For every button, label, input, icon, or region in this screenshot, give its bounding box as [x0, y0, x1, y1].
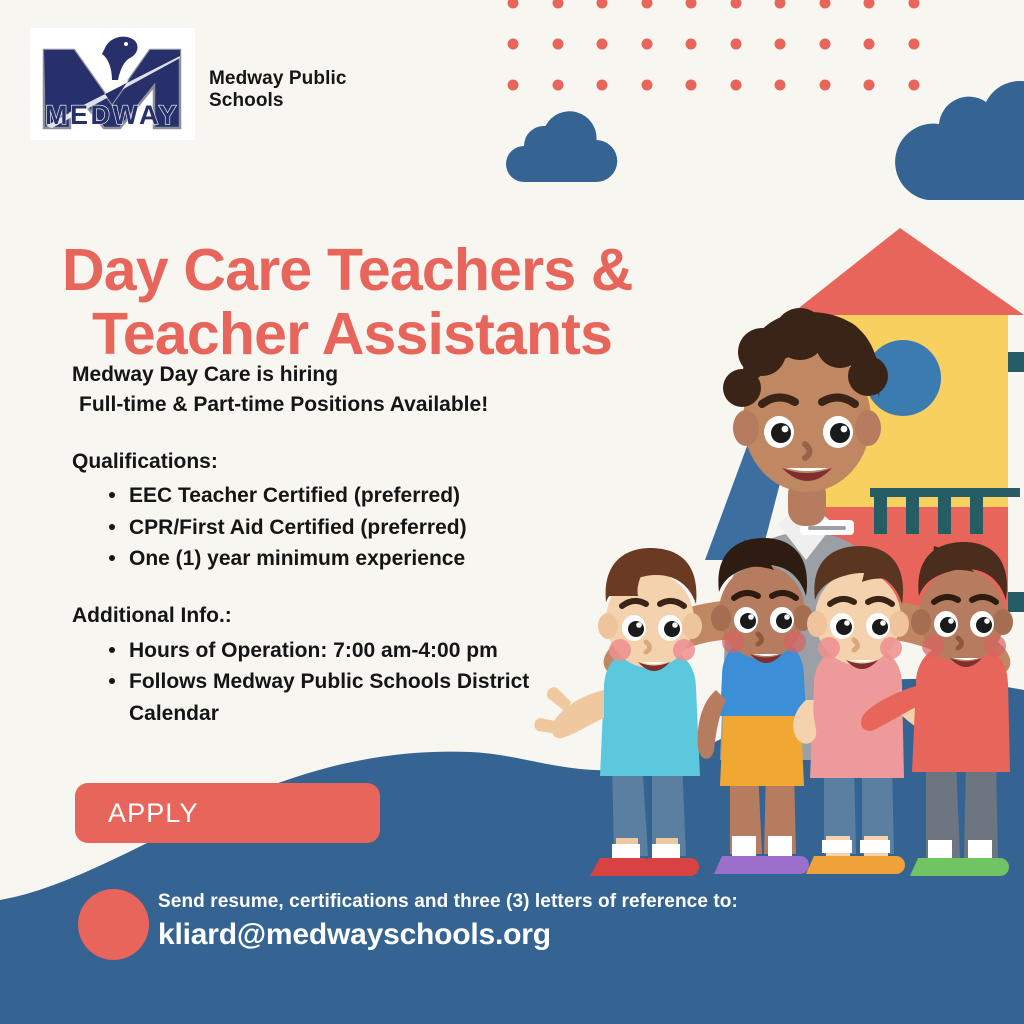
list-item: Follows Medway Public Schools District C… [109, 666, 592, 729]
medway-logo-mark: MEDWAY [30, 28, 195, 140]
poster: MEDWAY Medway Public Schools Day Care Te… [0, 0, 1024, 1024]
intro-line-2: Full-time & Part-time Positions Availabl… [72, 390, 592, 420]
child-1-shoe-left [590, 858, 651, 876]
child-1-shoe-right [642, 858, 699, 876]
body-copy: Medway Day Care is hiring Full-time & Pa… [72, 360, 592, 729]
qualifications-heading: Qualifications: [72, 447, 592, 477]
logo-m-icon: MEDWAY [30, 28, 195, 140]
footer-instruction: Send resume, certifications and three (3… [158, 890, 738, 914]
logo-caption: Medway Public Schools [209, 28, 394, 113]
child-2-shoe-right [754, 856, 809, 874]
list-item: CPR/First Aid Certified (preferred) [109, 512, 592, 543]
list-item: Hours of Operation: 7:00 am-4:00 pm [109, 635, 592, 666]
apply-button-label: APPLY [108, 798, 199, 829]
list-item: EEC Teacher Certified (preferred) [109, 480, 592, 511]
additional-info-heading: Additional Info.: [72, 601, 592, 631]
footer-contact: Send resume, certifications and three (3… [158, 890, 738, 953]
logo-wordmark: MEDWAY [45, 100, 179, 130]
page-title: Day Care Teachers & Teacher Assistants [62, 238, 782, 367]
footer-accent-circle [78, 889, 149, 960]
headline-line-1: Day Care Teachers & [62, 237, 633, 303]
svg-text:MEDWAY: MEDWAY [45, 100, 179, 130]
logo-block: MEDWAY Medway Public Schools [30, 28, 394, 140]
child-3-shoe-right [850, 856, 905, 874]
headline-line-2: Teacher Assistants [62, 302, 782, 366]
additional-info-list: Hours of Operation: 7:00 am-4:00 pm Foll… [72, 635, 592, 729]
intro-line-1: Medway Day Care is hiring [72, 360, 592, 390]
apply-button[interactable]: APPLY [75, 783, 380, 843]
qualifications-list: EEC Teacher Certified (preferred) CPR/Fi… [72, 480, 592, 574]
list-item: One (1) year minimum experience [109, 543, 592, 574]
contact-email[interactable]: kliard@medwayschools.org [158, 917, 738, 954]
child-4-shoe-right [954, 858, 1009, 876]
